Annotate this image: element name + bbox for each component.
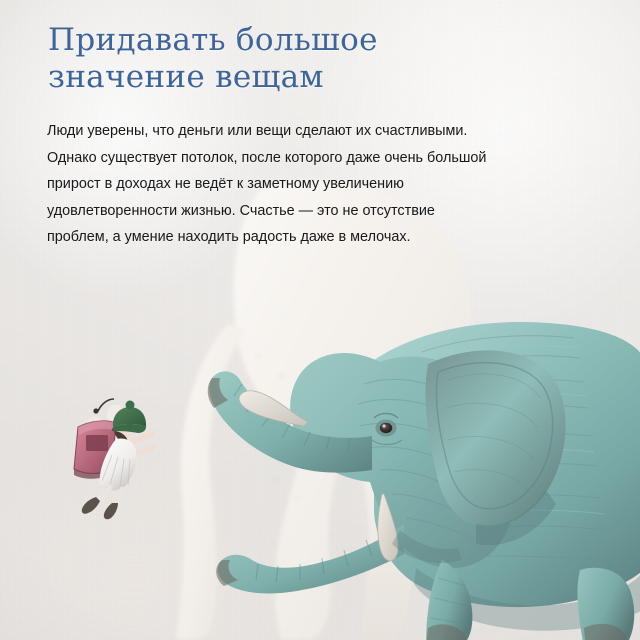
teal-elephant-icon (176, 268, 640, 640)
page-title: Придавать большое значение вещам (48, 22, 588, 96)
body-paragraph: Люди уверены, что деньги или вещи сделаю… (47, 118, 547, 251)
flying-girl-with-book-icon (62, 383, 182, 523)
quote-card: Придавать большое значение вещам Люди ув… (0, 0, 640, 640)
